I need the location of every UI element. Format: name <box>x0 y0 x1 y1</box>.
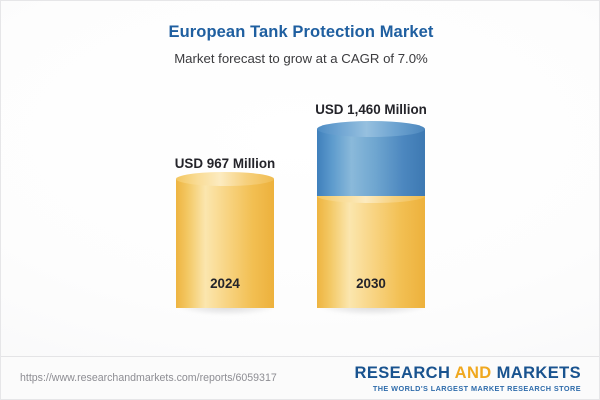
value-label-2024: USD 967 Million <box>95 155 355 172</box>
bar-segment-growth-2030 <box>317 129 425 196</box>
infographic-card: European Tank Protection Market Market f… <box>0 0 600 400</box>
category-label-2024: 2024 <box>176 275 274 292</box>
cylinder-top-cap <box>317 121 425 137</box>
value-label-2030: USD 1,460 Million <box>241 101 501 118</box>
chart-plot-area: USD 967 Million 2024 USD 1,460 Mill <box>1 1 600 356</box>
footer: https://www.researchandmarkets.com/repor… <box>1 357 600 400</box>
research-and-markets-logo[interactable]: RESEARCH AND MARKETS THE WORLD'S LARGEST… <box>355 364 582 394</box>
category-label-2030: 2030 <box>317 275 425 292</box>
logo-word-markets: MARKETS <box>492 364 581 382</box>
logo-wordmark: RESEARCH AND MARKETS <box>355 364 582 383</box>
report-url[interactable]: https://www.researchandmarkets.com/repor… <box>20 371 277 385</box>
logo-word-and: AND <box>455 364 492 382</box>
logo-word-research: RESEARCH <box>355 364 455 382</box>
cylinder-bottom-cap <box>317 301 425 315</box>
cylinder-top-cap <box>176 172 274 186</box>
logo-tagline: THE WORLD'S LARGEST MARKET RESEARCH STOR… <box>355 384 582 394</box>
cylinder-body <box>317 129 425 196</box>
cylinder-bottom-cap <box>176 301 274 315</box>
